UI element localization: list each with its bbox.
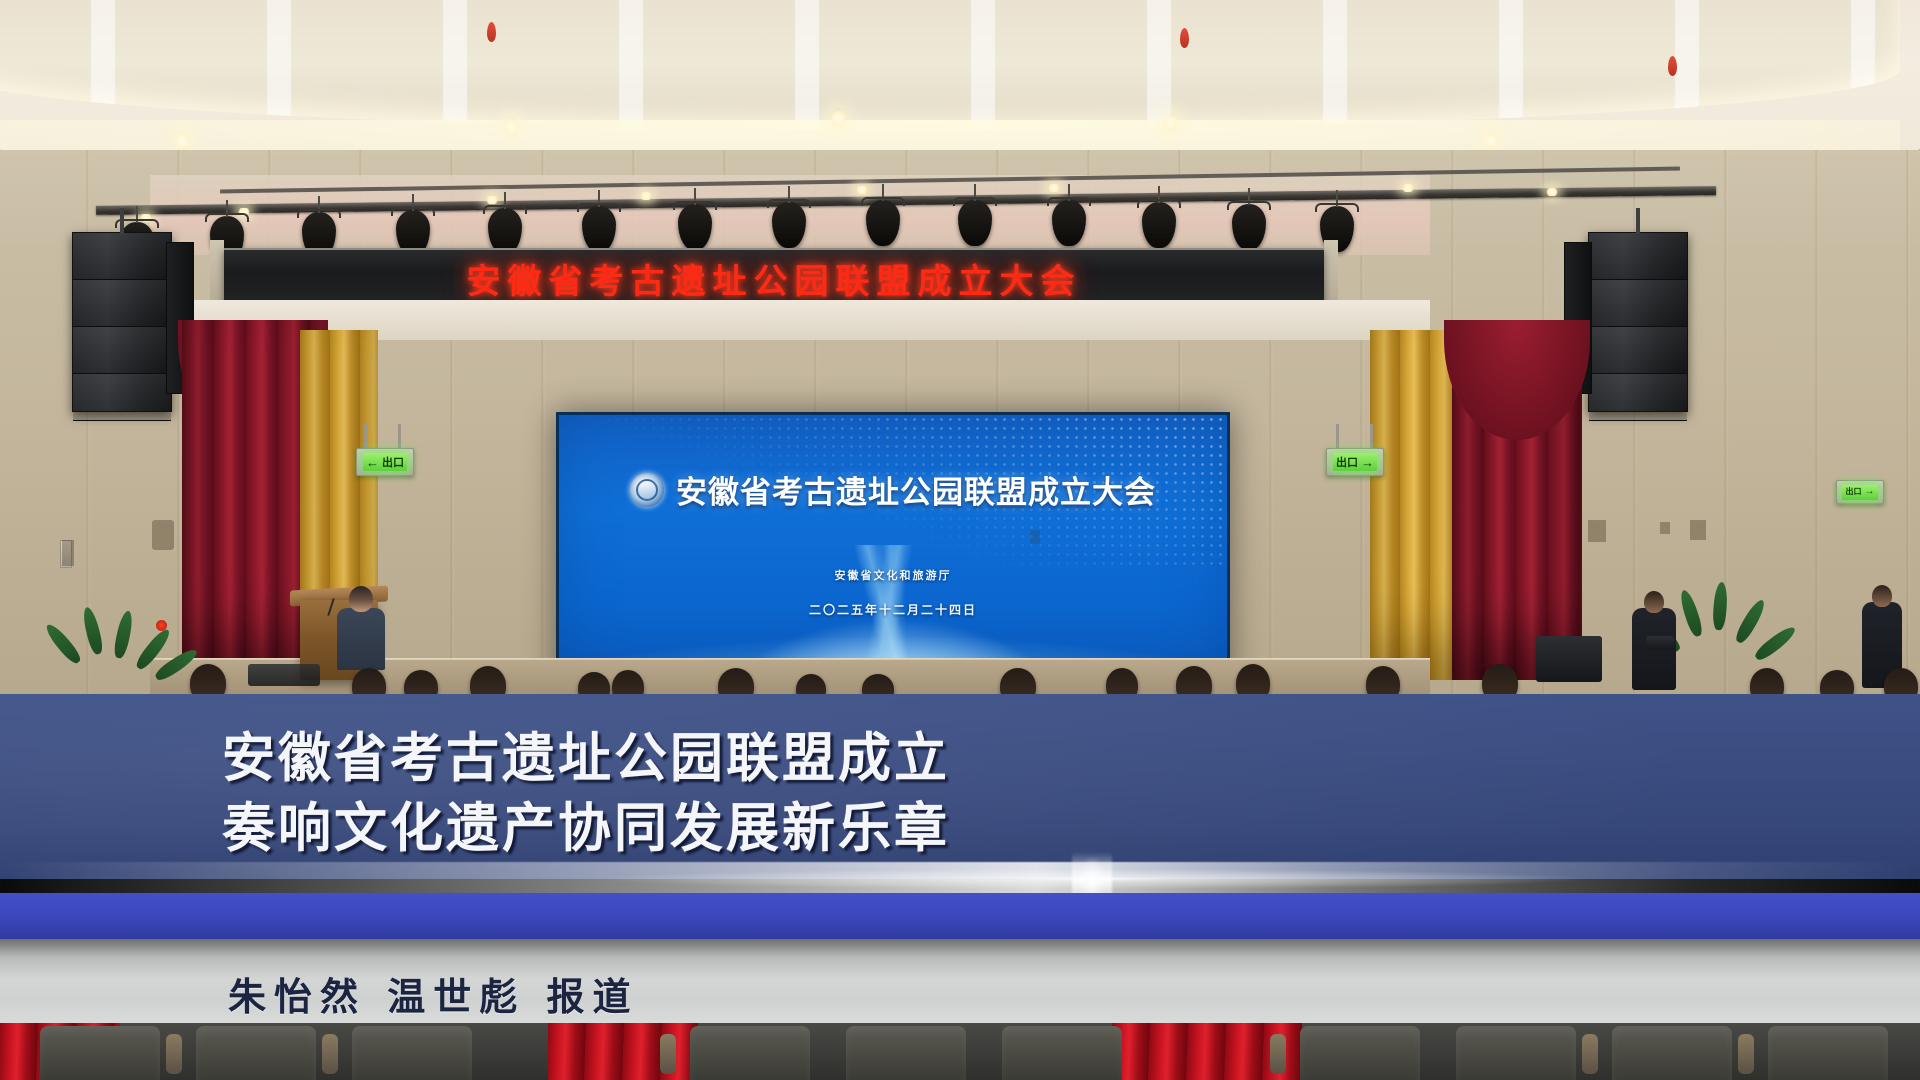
ceiling-downlight <box>832 108 845 130</box>
plant-leaf <box>1733 597 1768 645</box>
exit-sign-far-right-label: 出口 <box>1846 488 1862 496</box>
exit-sign-left: ← 出口 <box>356 448 414 476</box>
potted-plant-left <box>58 600 178 690</box>
equipment-case <box>1536 636 1602 682</box>
speaker-cabinet <box>73 233 171 280</box>
plant-leaf <box>81 606 105 656</box>
handheld-camera <box>1646 636 1674 650</box>
exit-sign-left-label: 出口 <box>382 457 404 468</box>
plant-leaf <box>1712 582 1728 631</box>
ceiling-ribs <box>0 0 1900 130</box>
auditorium-chair <box>1300 1026 1420 1080</box>
auditorium-chair <box>40 1026 160 1080</box>
auditorium-chair <box>1768 1026 1888 1080</box>
screen-title-text: 安徽省考古遗址公园联盟成立大会 <box>676 467 1156 512</box>
exit-sign-right: 出口 → <box>1326 448 1384 476</box>
line-array-speaker-left <box>72 232 172 412</box>
stage-spotlight <box>866 200 900 246</box>
speaker-cabinet <box>1589 280 1687 327</box>
stage-led-banner-text: 安徽省考古遗址公园联盟成立大会 <box>467 254 1082 303</box>
person-head <box>1644 591 1664 613</box>
plant-leaf <box>1677 588 1704 638</box>
stage-spotlight <box>582 206 616 252</box>
exit-sign-right-stem <box>1336 424 1339 450</box>
screen-title-row: 安徽省考古遗址公园联盟成立大会 <box>559 467 1227 512</box>
presenter-body <box>337 608 385 670</box>
truss-lamp <box>1546 188 1558 196</box>
speaker-cabinet <box>1589 374 1687 421</box>
speaker-cabinet <box>73 327 171 374</box>
byline-text: 朱怡然 温世彪 报道 <box>228 966 638 1021</box>
exit-sign-right-label: 出口 <box>1336 457 1358 468</box>
speaker-cabinet <box>73 374 171 421</box>
chair-armrest <box>1270 1034 1286 1074</box>
presenter-head <box>349 586 373 612</box>
wall-panel-mark <box>1588 520 1606 542</box>
sprinkler-head <box>487 22 496 42</box>
line-array-speaker-right <box>1588 232 1688 412</box>
arrow-left-icon: ← <box>366 456 379 469</box>
ceiling-downlight <box>1164 112 1177 134</box>
exit-sign-right-panel: 出口 → <box>1333 453 1377 471</box>
stage-led-banner: 安徽省考古遗址公园联盟成立大会 <box>224 248 1324 308</box>
stage-spotlight <box>1052 200 1086 246</box>
person-head <box>1872 585 1892 607</box>
headline-line-1: 安徽省考古遗址公园联盟成立 <box>222 716 950 792</box>
wall-panel-mark <box>1660 522 1670 534</box>
auditorium-chair <box>196 1026 316 1080</box>
exit-sign-far-right-panel: 出口 → <box>1842 485 1878 500</box>
exit-sign-left-panel: ← 出口 <box>363 453 407 471</box>
equipment-case <box>248 664 320 686</box>
speaker-cabinet <box>1589 327 1687 374</box>
globe-emblem-icon <box>630 473 664 507</box>
exit-sign-left-stem <box>364 424 367 450</box>
exit-sign-right-stem <box>1370 424 1373 450</box>
chair-armrest <box>166 1034 182 1074</box>
stage-spotlight <box>1142 202 1176 248</box>
auditorium-chair <box>846 1026 966 1080</box>
wall-panel-mark <box>1030 530 1040 544</box>
plant-leaf <box>112 610 135 660</box>
chair-armrest <box>322 1034 338 1074</box>
wall-panel-mark <box>1690 520 1706 540</box>
stage-spotlight <box>772 202 806 248</box>
auditorium-chair <box>1456 1026 1576 1080</box>
headline-line-2: 奏响文化遗产协同发展新乐章 <box>222 786 950 862</box>
ceiling-downlight <box>1485 130 1498 152</box>
ceiling-downlight <box>505 116 518 138</box>
truss-lamp <box>856 186 868 194</box>
ceiling-downlight <box>176 130 189 152</box>
auditorium-chair <box>1612 1026 1732 1080</box>
chair-armrest <box>1738 1034 1754 1074</box>
auditorium-chair <box>1002 1026 1122 1080</box>
exit-sign-left-stem <box>398 424 401 450</box>
truss-lamp <box>640 192 652 200</box>
lower-third-accent-bar <box>0 893 1920 939</box>
stage-spotlight <box>678 204 712 250</box>
auditorium-chair <box>690 1026 810 1080</box>
projection-screen: 安徽省考古遗址公园联盟成立大会 安徽省文化和旅游厅 二〇二五年十二月二十四日 <box>556 412 1230 688</box>
lower-third-overlay: 安徽省考古遗址公园联盟成立 奏响文化遗产协同发展新乐章 朱怡然 温世彪 报道 <box>0 694 1920 1023</box>
foreground-seating-row <box>0 1020 1920 1080</box>
truss-lamp <box>486 196 498 204</box>
wall-speaker-small <box>152 520 174 550</box>
speaker-rigging-right <box>1636 208 1640 234</box>
speaker-rigging-left <box>120 208 124 234</box>
wall-outlet <box>62 540 74 566</box>
screen-organizer-text: 安徽省文化和旅游厅 <box>559 567 1227 583</box>
speaker-cabinet <box>73 280 171 327</box>
screen-date-text: 二〇二五年十二月二十四日 <box>559 601 1227 618</box>
sprinkler-head <box>1180 28 1189 48</box>
truss-lamp <box>1402 184 1414 192</box>
chair-armrest <box>1582 1034 1598 1074</box>
sprinkler-head <box>1668 56 1677 76</box>
speaker-cabinet <box>1589 233 1687 280</box>
truss-lamp <box>1048 184 1060 192</box>
chair-armrest <box>660 1034 676 1074</box>
stage-spotlight <box>958 200 992 246</box>
arrow-right-icon: → <box>1865 487 1875 497</box>
broadcast-screenshot: 安徽省考古遗址公园联盟成立大会 <box>0 0 1920 1080</box>
stage-spotlight <box>1232 204 1266 250</box>
potted-plant-right <box>1662 582 1782 682</box>
exit-sign-far-right: 出口 → <box>1836 480 1884 504</box>
auditorium-chair <box>352 1026 472 1080</box>
arrow-right-icon: → <box>1361 456 1374 469</box>
